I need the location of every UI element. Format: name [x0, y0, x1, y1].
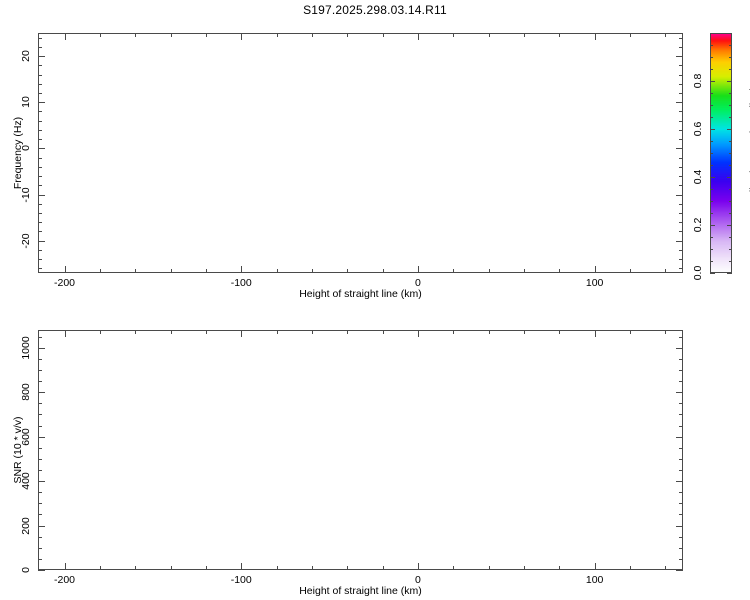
- tick-mark: [38, 167, 42, 168]
- tick-mark: [171, 566, 172, 570]
- tick-mark: [453, 566, 454, 570]
- tick-mark: [38, 121, 42, 122]
- tick-mark: [679, 448, 683, 449]
- tick-mark: [38, 38, 42, 39]
- tick-mark: [38, 437, 45, 438]
- tick-mark: [489, 269, 490, 273]
- tick-mark: [347, 33, 348, 37]
- tick-mark: [559, 269, 560, 273]
- tick-mark: [676, 570, 683, 571]
- tick-mark: [679, 65, 683, 66]
- tick-mark: [679, 158, 683, 159]
- tick-mark: [679, 537, 683, 538]
- tick-mark: [38, 204, 42, 205]
- tick-mark: [710, 177, 715, 178]
- tick-mark: [38, 241, 45, 242]
- tick-mark: [100, 33, 101, 37]
- tick-mark: [171, 330, 172, 334]
- tick-mark: [710, 261, 713, 262]
- tick-mark: [727, 273, 732, 274]
- tick-mark: [38, 231, 42, 232]
- tick-mark: [630, 330, 631, 334]
- tick-mark: [679, 403, 683, 404]
- tick-mark: [676, 348, 683, 349]
- tick-mark: [347, 566, 348, 570]
- tick-mark: [206, 269, 207, 273]
- tick-mark: [38, 158, 42, 159]
- tick-mark: [241, 563, 242, 570]
- tick-mark: [241, 330, 242, 337]
- tick-mark: [100, 269, 101, 273]
- tick-mark: [679, 111, 683, 112]
- tick-mark: [679, 503, 683, 504]
- tick-mark: [679, 121, 683, 122]
- tick-mark: [676, 102, 683, 103]
- tick-mark: [710, 225, 715, 226]
- tick-mark: [38, 102, 45, 103]
- tick-mark: [679, 259, 683, 260]
- tick-mark: [679, 414, 683, 415]
- tick-label: -200: [54, 277, 75, 289]
- tick-mark: [38, 448, 42, 449]
- tick-mark: [38, 481, 45, 482]
- tick-mark: [727, 129, 732, 130]
- tick-mark: [729, 33, 732, 34]
- tick-mark: [418, 33, 419, 40]
- tick-mark: [38, 570, 45, 571]
- tick-mark: [665, 330, 666, 334]
- tick-mark: [383, 330, 384, 334]
- tick-mark: [38, 111, 42, 112]
- tick-mark: [727, 81, 732, 82]
- tick-mark: [524, 269, 525, 273]
- tick-mark: [38, 56, 45, 57]
- tick-mark: [277, 566, 278, 570]
- tick-mark: [453, 33, 454, 37]
- figure-root: S197.2025.298.03.14.R11 -200-10001002010…: [0, 0, 750, 600]
- colorbar-tick-label: 0.4: [692, 170, 704, 185]
- spectrogram-x-axis-label: Height of straight line (km): [201, 288, 521, 300]
- tick-mark: [38, 403, 42, 404]
- tick-mark: [38, 195, 45, 196]
- tick-mark: [38, 526, 45, 527]
- tick-mark: [595, 266, 596, 273]
- colorbar-tick-label: 0.6: [692, 122, 704, 137]
- tick-mark: [38, 47, 42, 48]
- tick-mark: [206, 330, 207, 334]
- tick-mark: [679, 130, 683, 131]
- tick-label: 10: [20, 96, 32, 108]
- tick-mark: [710, 201, 713, 202]
- tick-mark: [710, 153, 713, 154]
- tick-mark: [710, 105, 713, 106]
- tick-mark: [38, 348, 45, 349]
- tick-mark: [679, 381, 683, 382]
- tick-mark: [383, 269, 384, 273]
- tick-mark: [729, 105, 732, 106]
- tick-mark: [595, 33, 596, 40]
- tick-label: 100: [586, 277, 604, 289]
- tick-mark: [679, 250, 683, 251]
- figure-title: S197.2025.298.03.14.R11: [0, 3, 750, 17]
- tick-mark: [679, 231, 683, 232]
- tick-mark: [729, 237, 732, 238]
- spectrogram-y-axis-label: Frequency (Hz): [12, 117, 24, 189]
- tick-mark: [676, 526, 683, 527]
- tick-mark: [665, 566, 666, 570]
- tick-mark: [729, 93, 732, 94]
- tick-mark: [679, 492, 683, 493]
- tick-mark: [595, 563, 596, 570]
- tick-mark: [277, 269, 278, 273]
- tick-mark: [38, 84, 42, 85]
- tick-mark: [383, 33, 384, 37]
- tick-mark: [729, 45, 732, 46]
- tick-mark: [710, 81, 715, 82]
- tick-mark: [347, 330, 348, 334]
- tick-mark: [38, 392, 45, 393]
- tick-mark: [679, 38, 683, 39]
- tick-mark: [665, 269, 666, 273]
- tick-mark: [679, 93, 683, 94]
- tick-mark: [710, 273, 715, 274]
- tick-mark: [679, 47, 683, 48]
- tick-mark: [729, 57, 732, 58]
- tick-mark: [38, 514, 42, 515]
- tick-mark: [38, 370, 42, 371]
- snr-y-axis-label: SNR (10 * v/v): [12, 416, 24, 483]
- tick-mark: [676, 437, 683, 438]
- colorbar-tick-label: 0.0: [692, 266, 704, 281]
- tick-mark: [729, 69, 732, 70]
- tick-mark: [679, 514, 683, 515]
- tick-mark: [679, 204, 683, 205]
- tick-mark: [38, 503, 42, 504]
- tick-mark: [38, 250, 42, 251]
- tick-mark: [347, 269, 348, 273]
- tick-mark: [710, 237, 713, 238]
- tick-mark: [710, 93, 713, 94]
- tick-mark: [729, 153, 732, 154]
- tick-mark: [679, 167, 683, 168]
- tick-mark: [312, 566, 313, 570]
- tick-mark: [38, 492, 42, 493]
- tick-mark: [679, 548, 683, 549]
- tick-mark: [679, 470, 683, 471]
- tick-label: 20: [20, 50, 32, 62]
- tick-mark: [727, 225, 732, 226]
- tick-mark: [171, 33, 172, 37]
- tick-mark: [729, 261, 732, 262]
- tick-mark: [277, 33, 278, 37]
- tick-mark: [489, 566, 490, 570]
- tick-mark: [679, 84, 683, 85]
- tick-mark: [312, 330, 313, 334]
- tick-mark: [38, 222, 42, 223]
- tick-mark: [38, 259, 42, 260]
- tick-label: 800: [20, 383, 32, 401]
- tick-mark: [38, 381, 42, 382]
- tick-mark: [727, 177, 732, 178]
- tick-mark: [729, 189, 732, 190]
- tick-mark: [679, 185, 683, 186]
- tick-mark: [135, 330, 136, 334]
- tick-mark: [676, 481, 683, 482]
- tick-mark: [679, 222, 683, 223]
- tick-mark: [524, 33, 525, 37]
- tick-mark: [710, 45, 713, 46]
- tick-mark: [729, 201, 732, 202]
- spectrogram-axes-frame: [38, 33, 683, 273]
- tick-mark: [241, 266, 242, 273]
- tick-mark: [100, 566, 101, 570]
- tick-mark: [676, 148, 683, 149]
- tick-mark: [676, 392, 683, 393]
- tick-mark: [206, 566, 207, 570]
- tick-mark: [676, 56, 683, 57]
- tick-mark: [277, 330, 278, 334]
- tick-mark: [38, 548, 42, 549]
- tick-mark: [489, 33, 490, 37]
- tick-mark: [38, 268, 42, 269]
- tick-mark: [241, 33, 242, 40]
- tick-label: -200: [54, 574, 75, 586]
- tick-mark: [595, 330, 596, 337]
- tick-mark: [38, 459, 42, 460]
- tick-mark: [383, 566, 384, 570]
- tick-mark: [489, 330, 490, 334]
- tick-mark: [38, 470, 42, 471]
- tick-mark: [418, 330, 419, 337]
- tick-mark: [135, 566, 136, 570]
- snr-x-axis-label: Height of straight line (km): [201, 585, 521, 597]
- tick-mark: [38, 65, 42, 66]
- tick-mark: [630, 269, 631, 273]
- tick-mark: [710, 165, 713, 166]
- tick-mark: [38, 426, 42, 427]
- tick-mark: [171, 269, 172, 273]
- tick-mark: [676, 195, 683, 196]
- tick-mark: [559, 33, 560, 37]
- tick-mark: [38, 176, 42, 177]
- tick-mark: [312, 269, 313, 273]
- tick-mark: [710, 117, 713, 118]
- tick-label: -10: [20, 187, 32, 202]
- tick-mark: [453, 269, 454, 273]
- tick-mark: [679, 459, 683, 460]
- tick-mark: [453, 330, 454, 334]
- tick-mark: [38, 185, 42, 186]
- tick-label: 0: [20, 567, 32, 573]
- tick-mark: [38, 139, 42, 140]
- tick-mark: [38, 414, 42, 415]
- tick-mark: [710, 57, 713, 58]
- tick-mark: [65, 33, 66, 40]
- tick-mark: [524, 330, 525, 334]
- tick-mark: [100, 330, 101, 334]
- tick-mark: [710, 141, 713, 142]
- tick-mark: [418, 563, 419, 570]
- tick-mark: [710, 189, 713, 190]
- tick-label: -20: [20, 233, 32, 248]
- tick-mark: [418, 266, 419, 273]
- tick-mark: [38, 130, 42, 131]
- tick-label: 100: [586, 574, 604, 586]
- tick-mark: [679, 426, 683, 427]
- tick-mark: [630, 566, 631, 570]
- tick-mark: [312, 33, 313, 37]
- tick-mark: [559, 566, 560, 570]
- colorbar-tick-label: 0.8: [692, 74, 704, 89]
- tick-mark: [710, 129, 715, 130]
- tick-mark: [679, 559, 683, 560]
- tick-mark: [679, 213, 683, 214]
- tick-mark: [710, 69, 713, 70]
- tick-mark: [679, 359, 683, 360]
- tick-mark: [729, 249, 732, 250]
- tick-mark: [679, 139, 683, 140]
- tick-label: 200: [20, 517, 32, 535]
- tick-mark: [665, 33, 666, 37]
- tick-mark: [38, 93, 42, 94]
- tick-mark: [65, 563, 66, 570]
- tick-mark: [679, 337, 683, 338]
- tick-mark: [729, 213, 732, 214]
- tick-mark: [65, 330, 66, 337]
- snr-axes-frame: [38, 330, 683, 570]
- tick-mark: [524, 566, 525, 570]
- tick-mark: [135, 269, 136, 273]
- tick-mark: [710, 213, 713, 214]
- tick-mark: [38, 359, 42, 360]
- tick-mark: [729, 141, 732, 142]
- tick-mark: [206, 33, 207, 37]
- tick-mark: [38, 337, 42, 338]
- tick-mark: [135, 33, 136, 37]
- tick-mark: [65, 266, 66, 273]
- tick-mark: [729, 165, 732, 166]
- tick-mark: [38, 559, 42, 560]
- tick-mark: [38, 75, 42, 76]
- tick-mark: [676, 241, 683, 242]
- tick-mark: [38, 537, 42, 538]
- tick-mark: [710, 249, 713, 250]
- tick-mark: [679, 370, 683, 371]
- tick-mark: [679, 268, 683, 269]
- tick-mark: [679, 176, 683, 177]
- tick-mark: [559, 330, 560, 334]
- tick-label: 1000: [20, 336, 32, 359]
- tick-mark: [729, 117, 732, 118]
- tick-mark: [38, 213, 42, 214]
- tick-mark: [710, 33, 713, 34]
- tick-mark: [38, 148, 45, 149]
- tick-mark: [630, 33, 631, 37]
- tick-mark: [679, 75, 683, 76]
- colorbar-tick-label: 0.2: [692, 218, 704, 233]
